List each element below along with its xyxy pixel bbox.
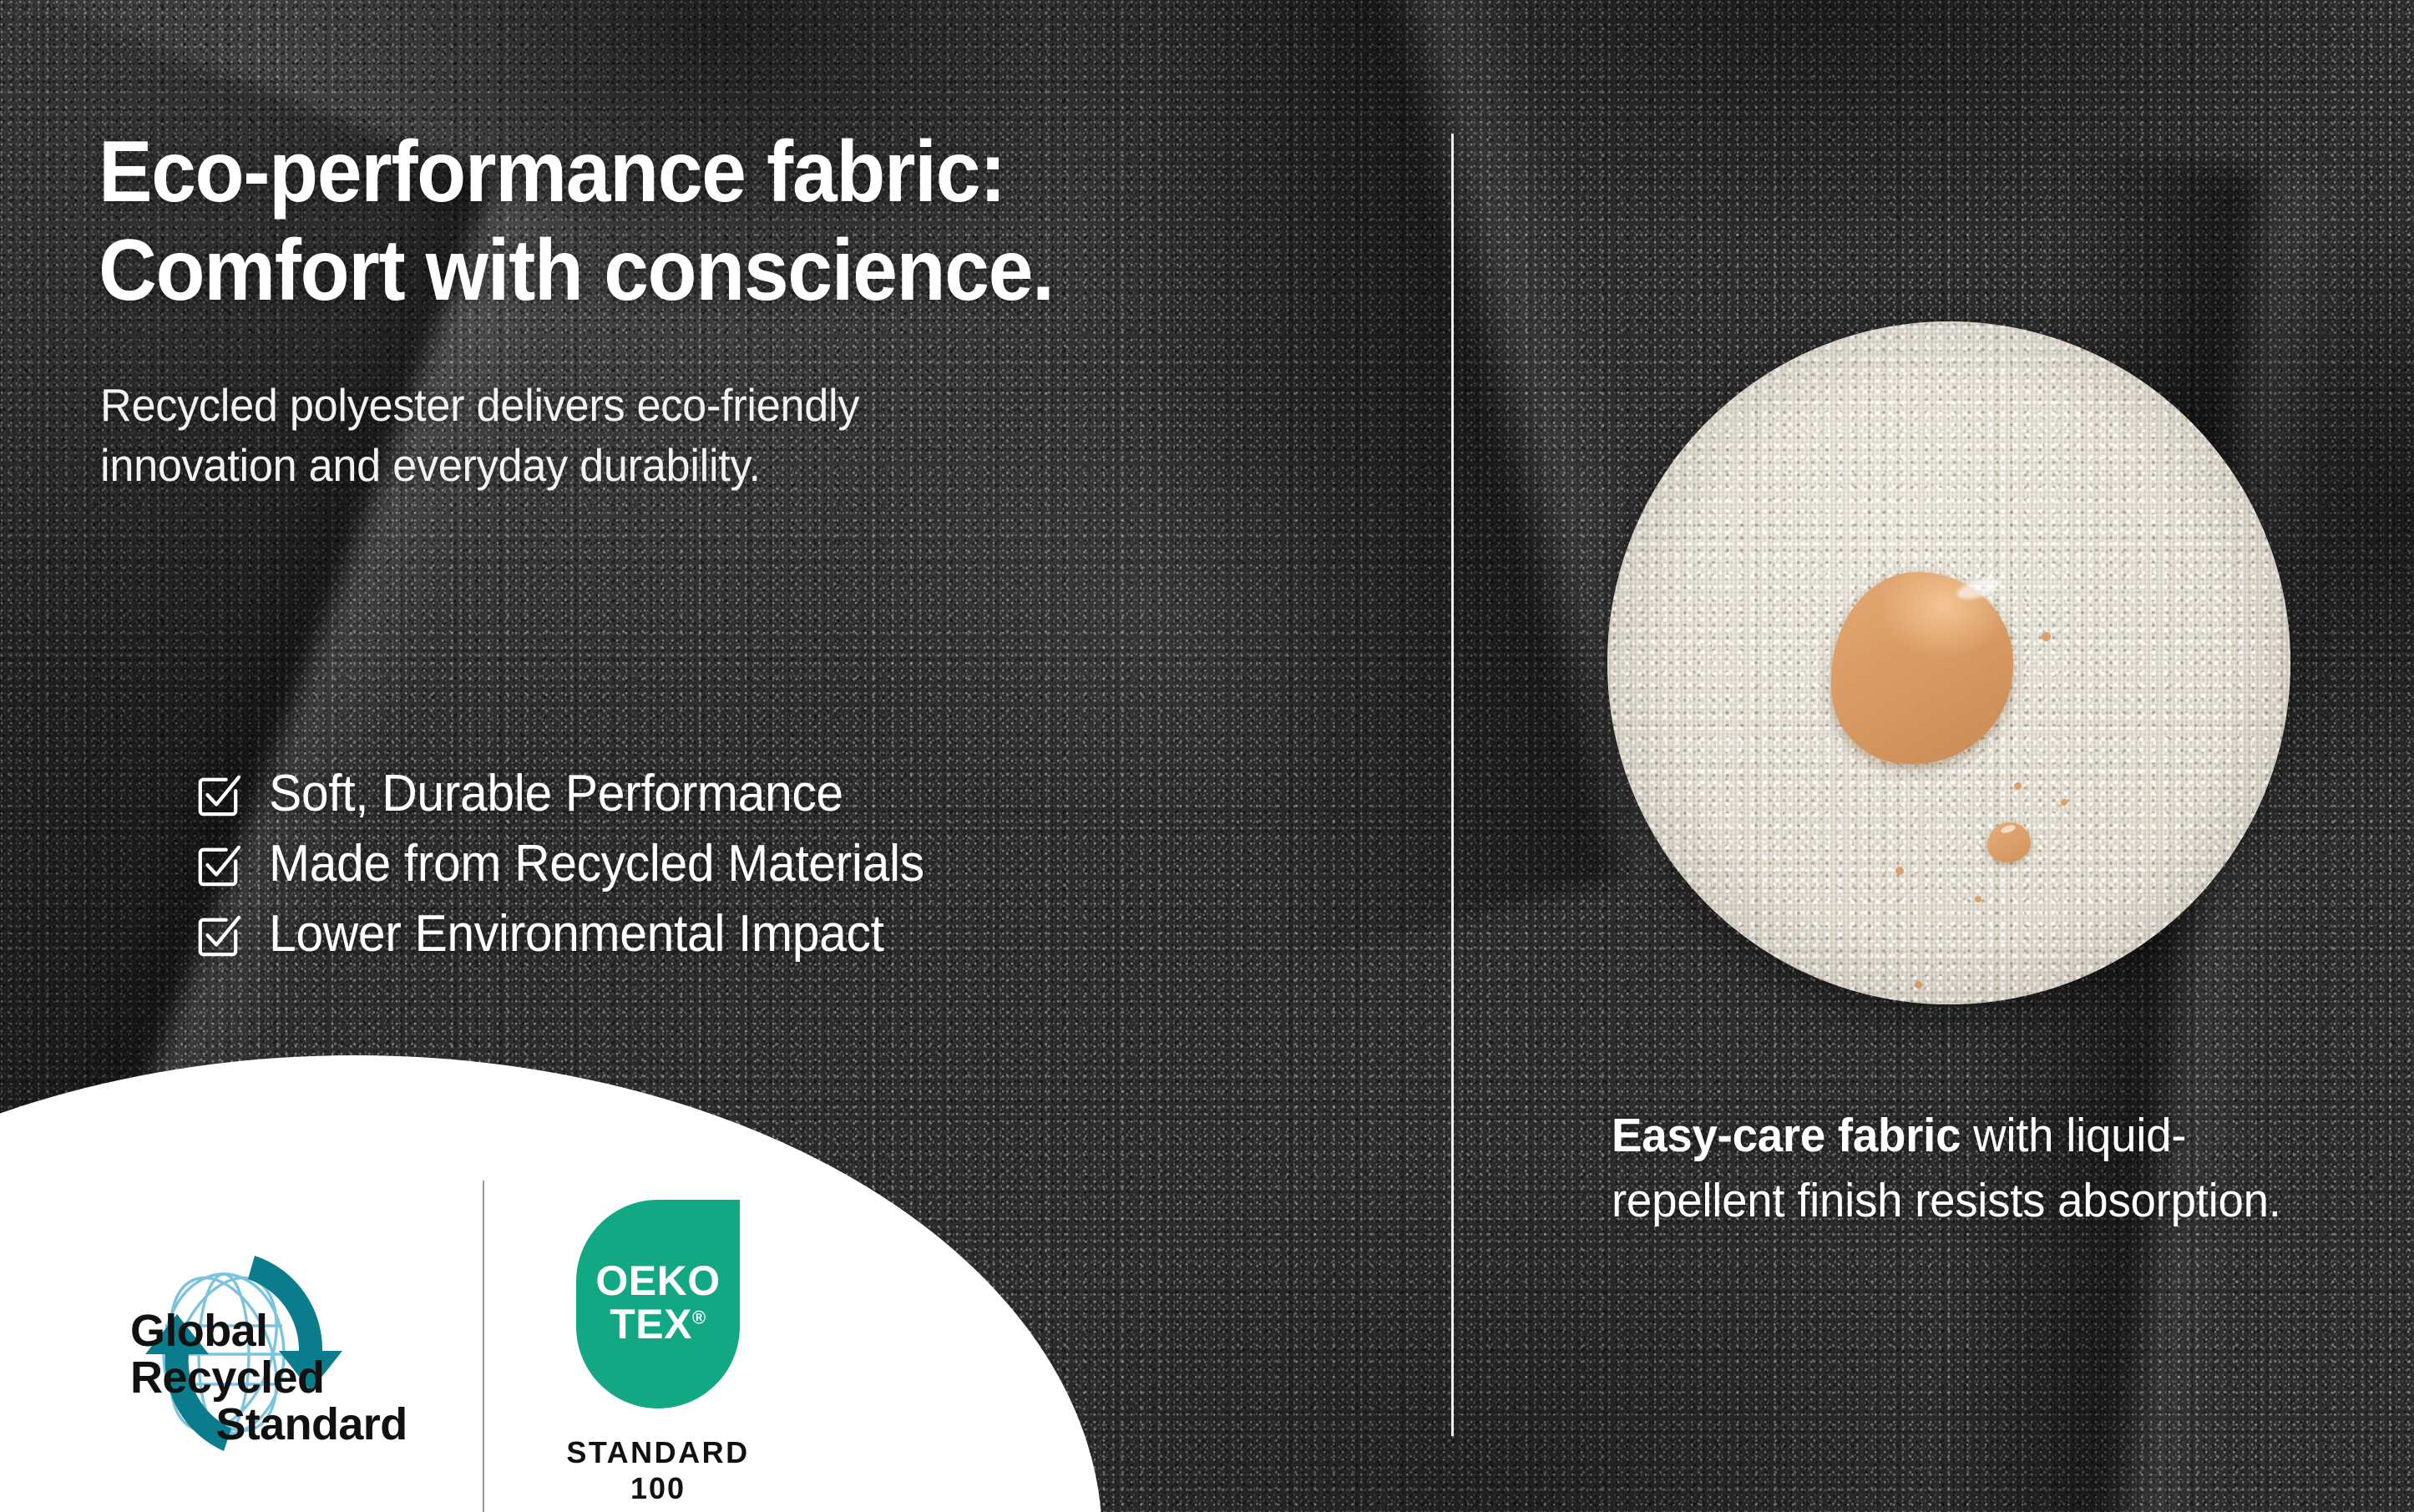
- list-item: Lower Environmental Impact: [195, 908, 959, 960]
- certification-logos: Global Recycled Standard OEKO TEX® STAND…: [50, 1181, 783, 1512]
- list-item: Made from Recycled Materials: [195, 838, 959, 890]
- oeko-tex-line-2: TEX®: [610, 1302, 706, 1348]
- right-caption: Easy-care fabric with liquid-repellent f…: [1612, 1104, 2333, 1233]
- column-divider: [1451, 134, 1454, 1436]
- right-caption-bold: Easy-care fabric: [1612, 1109, 1961, 1162]
- global-recycled-standard-logo: Global Recycled Standard: [50, 1227, 459, 1478]
- list-item: Soft, Durable Performance: [195, 768, 959, 820]
- benefits-list: Soft, Durable Performance Made from Recy…: [195, 768, 959, 979]
- page-title: Eco-performance fabric: Comfort with con…: [99, 124, 1053, 320]
- checkbox-checked-icon: [195, 843, 240, 888]
- oeko-tex-standard-number: 100: [533, 1471, 783, 1506]
- benefit-label: Lower Environmental Impact: [269, 908, 884, 960]
- oeko-tex-line-1: OEKO: [595, 1260, 720, 1302]
- fabric-droplet-inset-image: [1607, 321, 2290, 1004]
- checkbox-checked-icon: [195, 913, 240, 958]
- inset-edge-shading: [1607, 321, 2290, 1004]
- registered-mark-icon: ®: [692, 1307, 706, 1327]
- grs-label: Global Recycled Standard: [130, 1307, 464, 1448]
- oeko-tex-droplet-icon: OEKO TEX®: [576, 1200, 740, 1408]
- oeko-tex-logo: OEKO TEX® STANDARD 100: [533, 1200, 783, 1506]
- benefit-label: Soft, Durable Performance: [269, 768, 843, 820]
- oeko-tex-standard-label: STANDARD: [533, 1434, 783, 1471]
- checkbox-checked-icon: [195, 773, 240, 818]
- grs-line-2: Standard: [130, 1401, 464, 1448]
- page-subtitle: Recycled polyester delivers eco-friendly…: [100, 376, 859, 495]
- grs-line-1: Global Recycled: [130, 1306, 324, 1403]
- benefit-label: Made from Recycled Materials: [269, 838, 924, 890]
- marketing-banner: Eco-performance fabric: Comfort with con…: [0, 0, 2414, 1512]
- certification-divider: [483, 1181, 484, 1512]
